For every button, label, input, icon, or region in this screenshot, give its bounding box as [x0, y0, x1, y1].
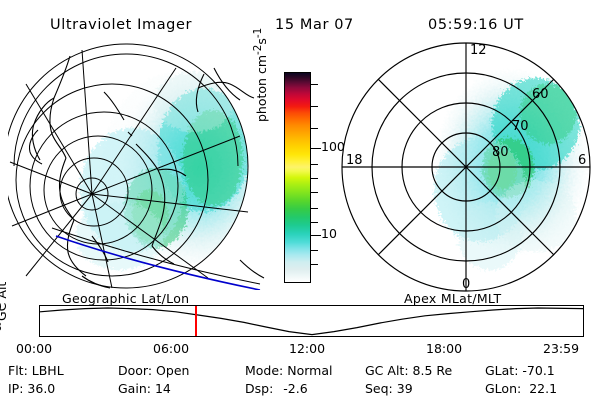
status-gain-value: 14: [155, 381, 171, 396]
strip-ytick-high: 9.0: [0, 299, 2, 314]
colorbar-tick-label-10: 10: [321, 228, 337, 241]
colorbar-axis-label: photon cm-2s-1: [252, 0, 269, 122]
colorbar-minor-tick: [311, 164, 318, 165]
status-dsp-label: Dsp:: [245, 381, 273, 396]
strip-xtick-3: 18:00: [426, 341, 462, 356]
status-glat-label: GLat:: [485, 363, 518, 378]
colorbar-minor-tick: [311, 250, 318, 251]
colorbar-gradient: [284, 72, 311, 283]
geographic-plot[interactable]: [8, 40, 266, 290]
strip-ytick-low: 1.8: [0, 319, 2, 334]
colorbar-minor-tick: [311, 84, 318, 85]
observation-time: 05:59:16 UT: [428, 17, 524, 33]
colorbar-minor-tick: [311, 128, 318, 129]
page-title: Ultraviolet Imager: [50, 17, 192, 33]
status-flt: Flt: LBHL: [8, 363, 64, 378]
status-flt-label: Flt:: [8, 363, 28, 378]
status-gain-label: Gain:: [118, 381, 151, 396]
time-cursor[interactable]: [195, 306, 197, 336]
mlat-label-60: 60: [532, 87, 549, 102]
gc-alt-curve: [40, 306, 583, 336]
colorbar-minor-tick: [311, 106, 318, 107]
status-dsp: Dsp: -2.6: [245, 381, 308, 396]
colorbar-minor-tick: [311, 178, 318, 179]
mlt-label-6: 6: [578, 153, 586, 168]
status-gcalt-label: GC Alt:: [365, 363, 409, 378]
status-gcalt-value: 8.5 Re: [413, 363, 453, 378]
mlt-label-18: 18: [346, 153, 363, 168]
strip-chart-plot-area[interactable]: [39, 305, 584, 337]
status-seq-value: 39: [397, 381, 413, 396]
status-glon-label: GLon:: [485, 381, 521, 396]
status-mode: Mode: Normal: [245, 363, 333, 378]
mlat-label-70: 70: [512, 119, 529, 134]
status-dsp-value: -2.6: [283, 381, 307, 396]
colorbar-minor-tick: [311, 192, 318, 193]
observation-date: 15 Mar 07: [275, 17, 354, 33]
colorbar-major-tick-10: [311, 235, 321, 236]
mlt-label-0: 0: [462, 277, 470, 292]
status-mode-value: Normal: [287, 363, 332, 378]
strip-xtick-2: 12:00: [289, 341, 325, 356]
colorbar-major-tick-100: [311, 148, 321, 149]
mlt-spokes: [342, 43, 590, 291]
status-gain: Gain: 14: [118, 381, 171, 396]
status-seq-label: Seq:: [365, 381, 393, 396]
gc-alt-strip-chart[interactable]: GC Alt 9.0 1.8 00:00 06:00 12:00 18:00 2…: [8, 305, 592, 337]
apex-mlat-mlt-plot[interactable]: 12 18 6 0 60 70 80: [340, 40, 596, 296]
strip-xtick-0: 00:00: [16, 341, 52, 356]
colorbar-minor-tick: [311, 264, 318, 265]
status-footer: Flt: LBHL IP: 36.0 Door: Open Gain: 14 M…: [0, 360, 600, 398]
status-seq: Seq: 39: [365, 381, 413, 396]
status-flt-value: LBHL: [32, 363, 64, 378]
status-ip-value: 36.0: [27, 381, 55, 396]
colorbar-minor-tick: [311, 208, 318, 209]
strip-xtick-1: 06:00: [153, 341, 189, 356]
geographic-plot-caption: Geographic Lat/Lon: [62, 291, 189, 306]
mlt-label-12: 12: [470, 43, 487, 58]
header-bar: Ultraviolet Imager 15 Mar 07 05:59:16 UT: [0, 8, 600, 30]
status-door-label: Door:: [118, 363, 152, 378]
status-door: Door: Open: [118, 363, 189, 378]
status-ip: IP: 36.0: [8, 381, 55, 396]
mlat-label-80: 80: [492, 145, 509, 160]
status-door-value: Open: [156, 363, 189, 378]
aurora-emission-apex: [434, 70, 588, 270]
status-ip-label: IP:: [8, 381, 23, 396]
colorbar-minor-tick: [311, 222, 318, 223]
status-glat: GLat: -70.1: [485, 363, 555, 378]
status-glon: GLon: 22.1: [485, 381, 557, 396]
status-glon-value: 22.1: [529, 381, 557, 396]
apex-plot-caption: Apex MLat/MLT: [404, 291, 501, 306]
status-glat-value: -70.1: [522, 363, 554, 378]
status-mode-label: Mode:: [245, 363, 283, 378]
status-gcalt: GC Alt: 8.5 Re: [365, 363, 452, 378]
strip-xtick-4: 23:59: [543, 341, 579, 356]
